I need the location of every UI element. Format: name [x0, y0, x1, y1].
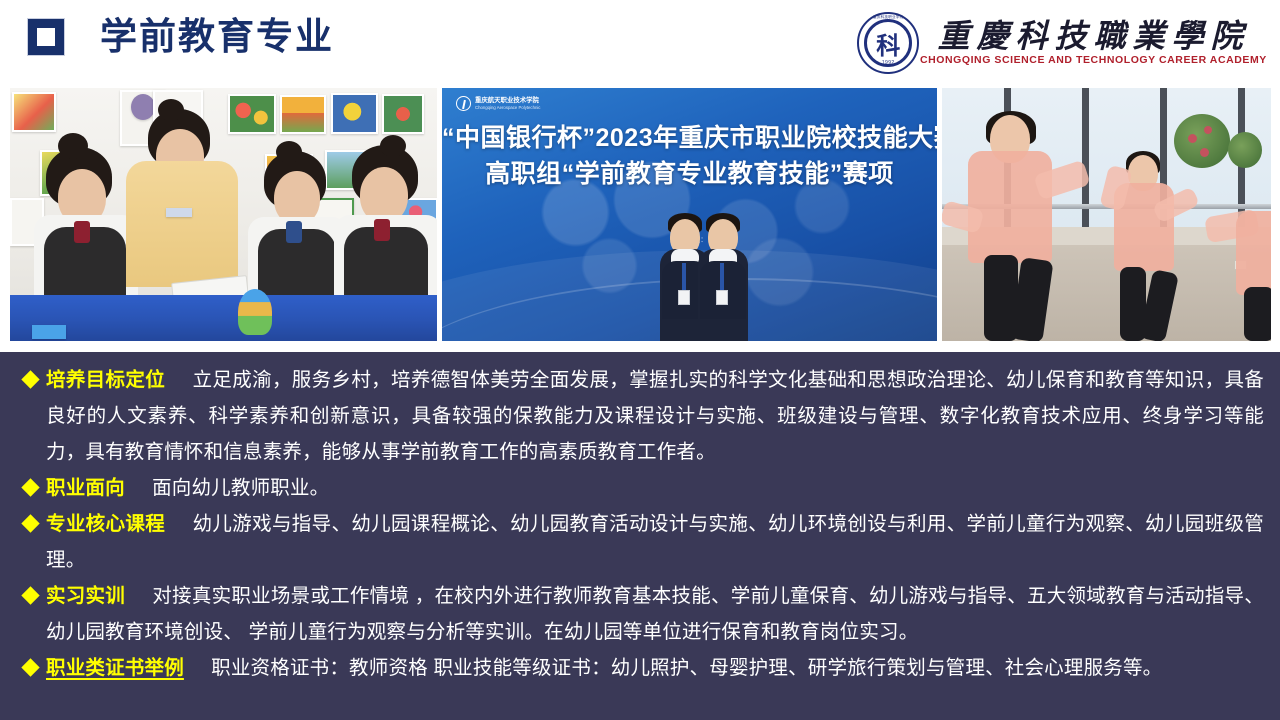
content-paragraph: 专业核心课程 幼儿游戏与指导、幼儿园课程概论、幼儿园教育活动设计与实施、幼儿环境… — [46, 506, 1264, 578]
content-paragraph: 实习实训 对接真实职业场景或工作情境 ，在校内外进行教师教育基本技能、学前儿童保… — [46, 578, 1264, 650]
content-body-text: 面向幼儿教师职业。 — [152, 477, 329, 499]
dancer-figure — [1214, 171, 1271, 341]
content-lead-label: 专业核心课程 — [46, 513, 165, 535]
content-item-5: 职业类证书举例 职业资格证书：教师资格 职业技能等级证书：幼儿照护、母婴护理、研… — [16, 650, 1264, 686]
aerospace-logo-icon — [456, 96, 471, 111]
dancer-figure — [958, 95, 1088, 341]
teacher-figure — [118, 95, 248, 295]
photo-band: 重庆航天职业技术学院 Chongqing Aerospace Polytechn… — [10, 88, 1271, 341]
content-paragraph: 职业类证书举例 职业资格证书：教师资格 职业技能等级证书：幼儿照护、母婴护理、研… — [46, 650, 1264, 686]
dance-practice-photo — [942, 88, 1271, 341]
banner-headline-2: 高职组“学前教育专业教育技能”赛项 — [442, 154, 937, 190]
content-item-1: 培养目标定位 立足成渝，服务乡村，培养德智体美劳全面发展，掌握扎实的科学文化基础… — [16, 362, 1264, 470]
diamond-icon — [21, 370, 39, 388]
school-name-en: CHONGQING SCIENCE AND TECHNOLOGY CAREER … — [920, 55, 1267, 66]
diamond-icon — [21, 658, 39, 676]
content-item-3: 专业核心课程 幼儿游戏与指导、幼儿园课程概论、幼儿园教育活动设计与实施、幼儿环境… — [16, 506, 1264, 578]
banner-org-cn: 重庆航天职业技术学院 — [475, 97, 540, 105]
diamond-icon — [21, 514, 39, 532]
diamond-icon — [21, 586, 39, 604]
slide-root: 学前教育专业 重庆科技职业学院 科 1992 重慶科技職業學院 CHONGQIN… — [0, 0, 1280, 720]
banner-organizer-logo: 重庆航天职业技术学院 Chongqing Aerospace Polytechn… — [456, 96, 540, 111]
dancer-figure — [1098, 135, 1214, 341]
content-lead-label: 实习实训 — [46, 585, 125, 607]
school-name-cn: 重慶科技職業學院 — [938, 20, 1250, 54]
content-body-text: 职业资格证书：教师资格 职业技能等级证书：幼儿照护、母婴护理、研学旅行策划与管理… — [211, 657, 1162, 679]
page-title: 学前教育专业 — [100, 18, 334, 55]
banner-headline-1: “中国银行杯”2023年重庆市职业院校技能大赛 — [442, 118, 937, 154]
content-lead-label: 职业类证书举例 — [46, 657, 184, 679]
content-body-text: 对接真实职业场景或工作情境 ，在校内外进行教师教育基本技能、学前儿童保育、幼儿游… — [46, 585, 1264, 643]
content-lead-label: 职业面向 — [46, 477, 125, 499]
content-item-4: 实习实训 对接真实职业场景或工作情境 ，在校内外进行教师教育基本技能、学前儿童保… — [16, 578, 1264, 650]
school-logo: 重庆科技职业学院 科 1992 重慶科技職業學院 CHONGQING SCIEN… — [857, 12, 1262, 74]
school-seal-icon: 重庆科技职业学院 科 1992 — [857, 12, 919, 74]
student-figure — [334, 131, 437, 295]
diamond-icon — [21, 478, 39, 496]
content-panel: 培养目标定位 立足成渝，服务乡村，培养德智体美劳全面发展，掌握扎实的科学文化基础… — [0, 352, 1280, 720]
content-item-2: 职业面向 面向幼儿教师职业。 — [16, 470, 1264, 506]
content-paragraph: 培养目标定位 立足成渝，服务乡村，培养德智体美劳全面发展，掌握扎实的科学文化基础… — [46, 362, 1264, 470]
square-outline-icon — [28, 19, 64, 55]
banner-org-en: Chongqing Aerospace Polytechnic — [475, 105, 540, 110]
craft-toy — [238, 289, 272, 335]
content-body-text: 立足成渝，服务乡村，培养德智体美劳全面发展，掌握扎实的科学文化基础和思想政治理论… — [46, 369, 1264, 463]
skills-competition-banner-photo: 重庆航天职业技术学院 Chongqing Aerospace Polytechn… — [442, 88, 937, 341]
classroom-teaching-photo — [10, 88, 437, 341]
content-body-text: 幼儿游戏与指导、幼儿园课程概论、幼儿园教育活动设计与实施、幼儿环境创设与利用、学… — [46, 513, 1264, 571]
slide-header: 学前教育专业 重庆科技职业学院 科 1992 重慶科技職業學院 CHONGQIN… — [0, 0, 1280, 86]
content-paragraph: 职业面向 面向幼儿教师职业。 — [46, 470, 1264, 506]
content-lead-label: 培养目标定位 — [46, 369, 165, 391]
school-logo-text: 重慶科技職業學院 CHONGQING SCIENCE AND TECHNOLOG… — [925, 20, 1262, 67]
title-group: 学前教育专业 — [28, 18, 334, 55]
seal-year: 1992 — [857, 60, 919, 66]
